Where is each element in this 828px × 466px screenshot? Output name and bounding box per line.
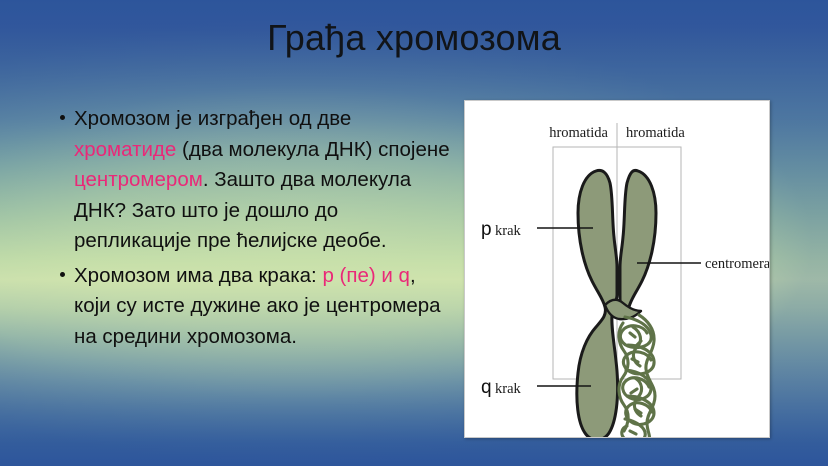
right-chromatid-p-arm [620,170,656,317]
label-p-arm-word: krak [495,223,522,239]
bullet-2-seg-1-highlight: p (пе) и q [322,264,410,287]
bullet-1-seg-1-highlight: хроматиде [74,138,176,161]
list-item: Хромозом има два крака: p (пе) и q, који… [58,261,453,353]
bullet-1-seg-2: (два молекула ДНК) спојене [176,138,449,161]
list-item: Хромозом је изграђен од две хроматиде (д… [58,104,453,257]
bullet-dot-icon [60,272,65,277]
diagram-picture-frame: hromatida hromatida [464,100,770,438]
label-q-arm-letter: q [481,377,492,398]
slide-canvas: Грађа хромозома Хромозом је изграђен од … [0,0,828,466]
label-centromera: centromera [705,256,769,272]
bullet-dot-icon [60,115,65,120]
bullet-1-seg-3-highlight: центромером [74,168,203,191]
chromosome-structure-diagram: hromatida hromatida [465,101,769,437]
label-hromatida-left: hromatida [549,125,608,141]
label-p-arm-letter: p [481,219,492,240]
label-q-arm-word: krak [495,381,522,397]
chromosome-shape [577,170,656,437]
page-title: Грађа хромозома [0,16,828,60]
label-hromatida-right: hromatida [626,125,685,141]
bullet-2-seg-0: Хромозом има два крака: [74,264,322,287]
right-chromatid-q-arm-coil [619,315,655,437]
body-text-block: Хромозом је изграђен од две хроматиде (д… [58,104,453,356]
bullet-1-seg-0: Хромозом је изграђен од две [74,107,351,130]
